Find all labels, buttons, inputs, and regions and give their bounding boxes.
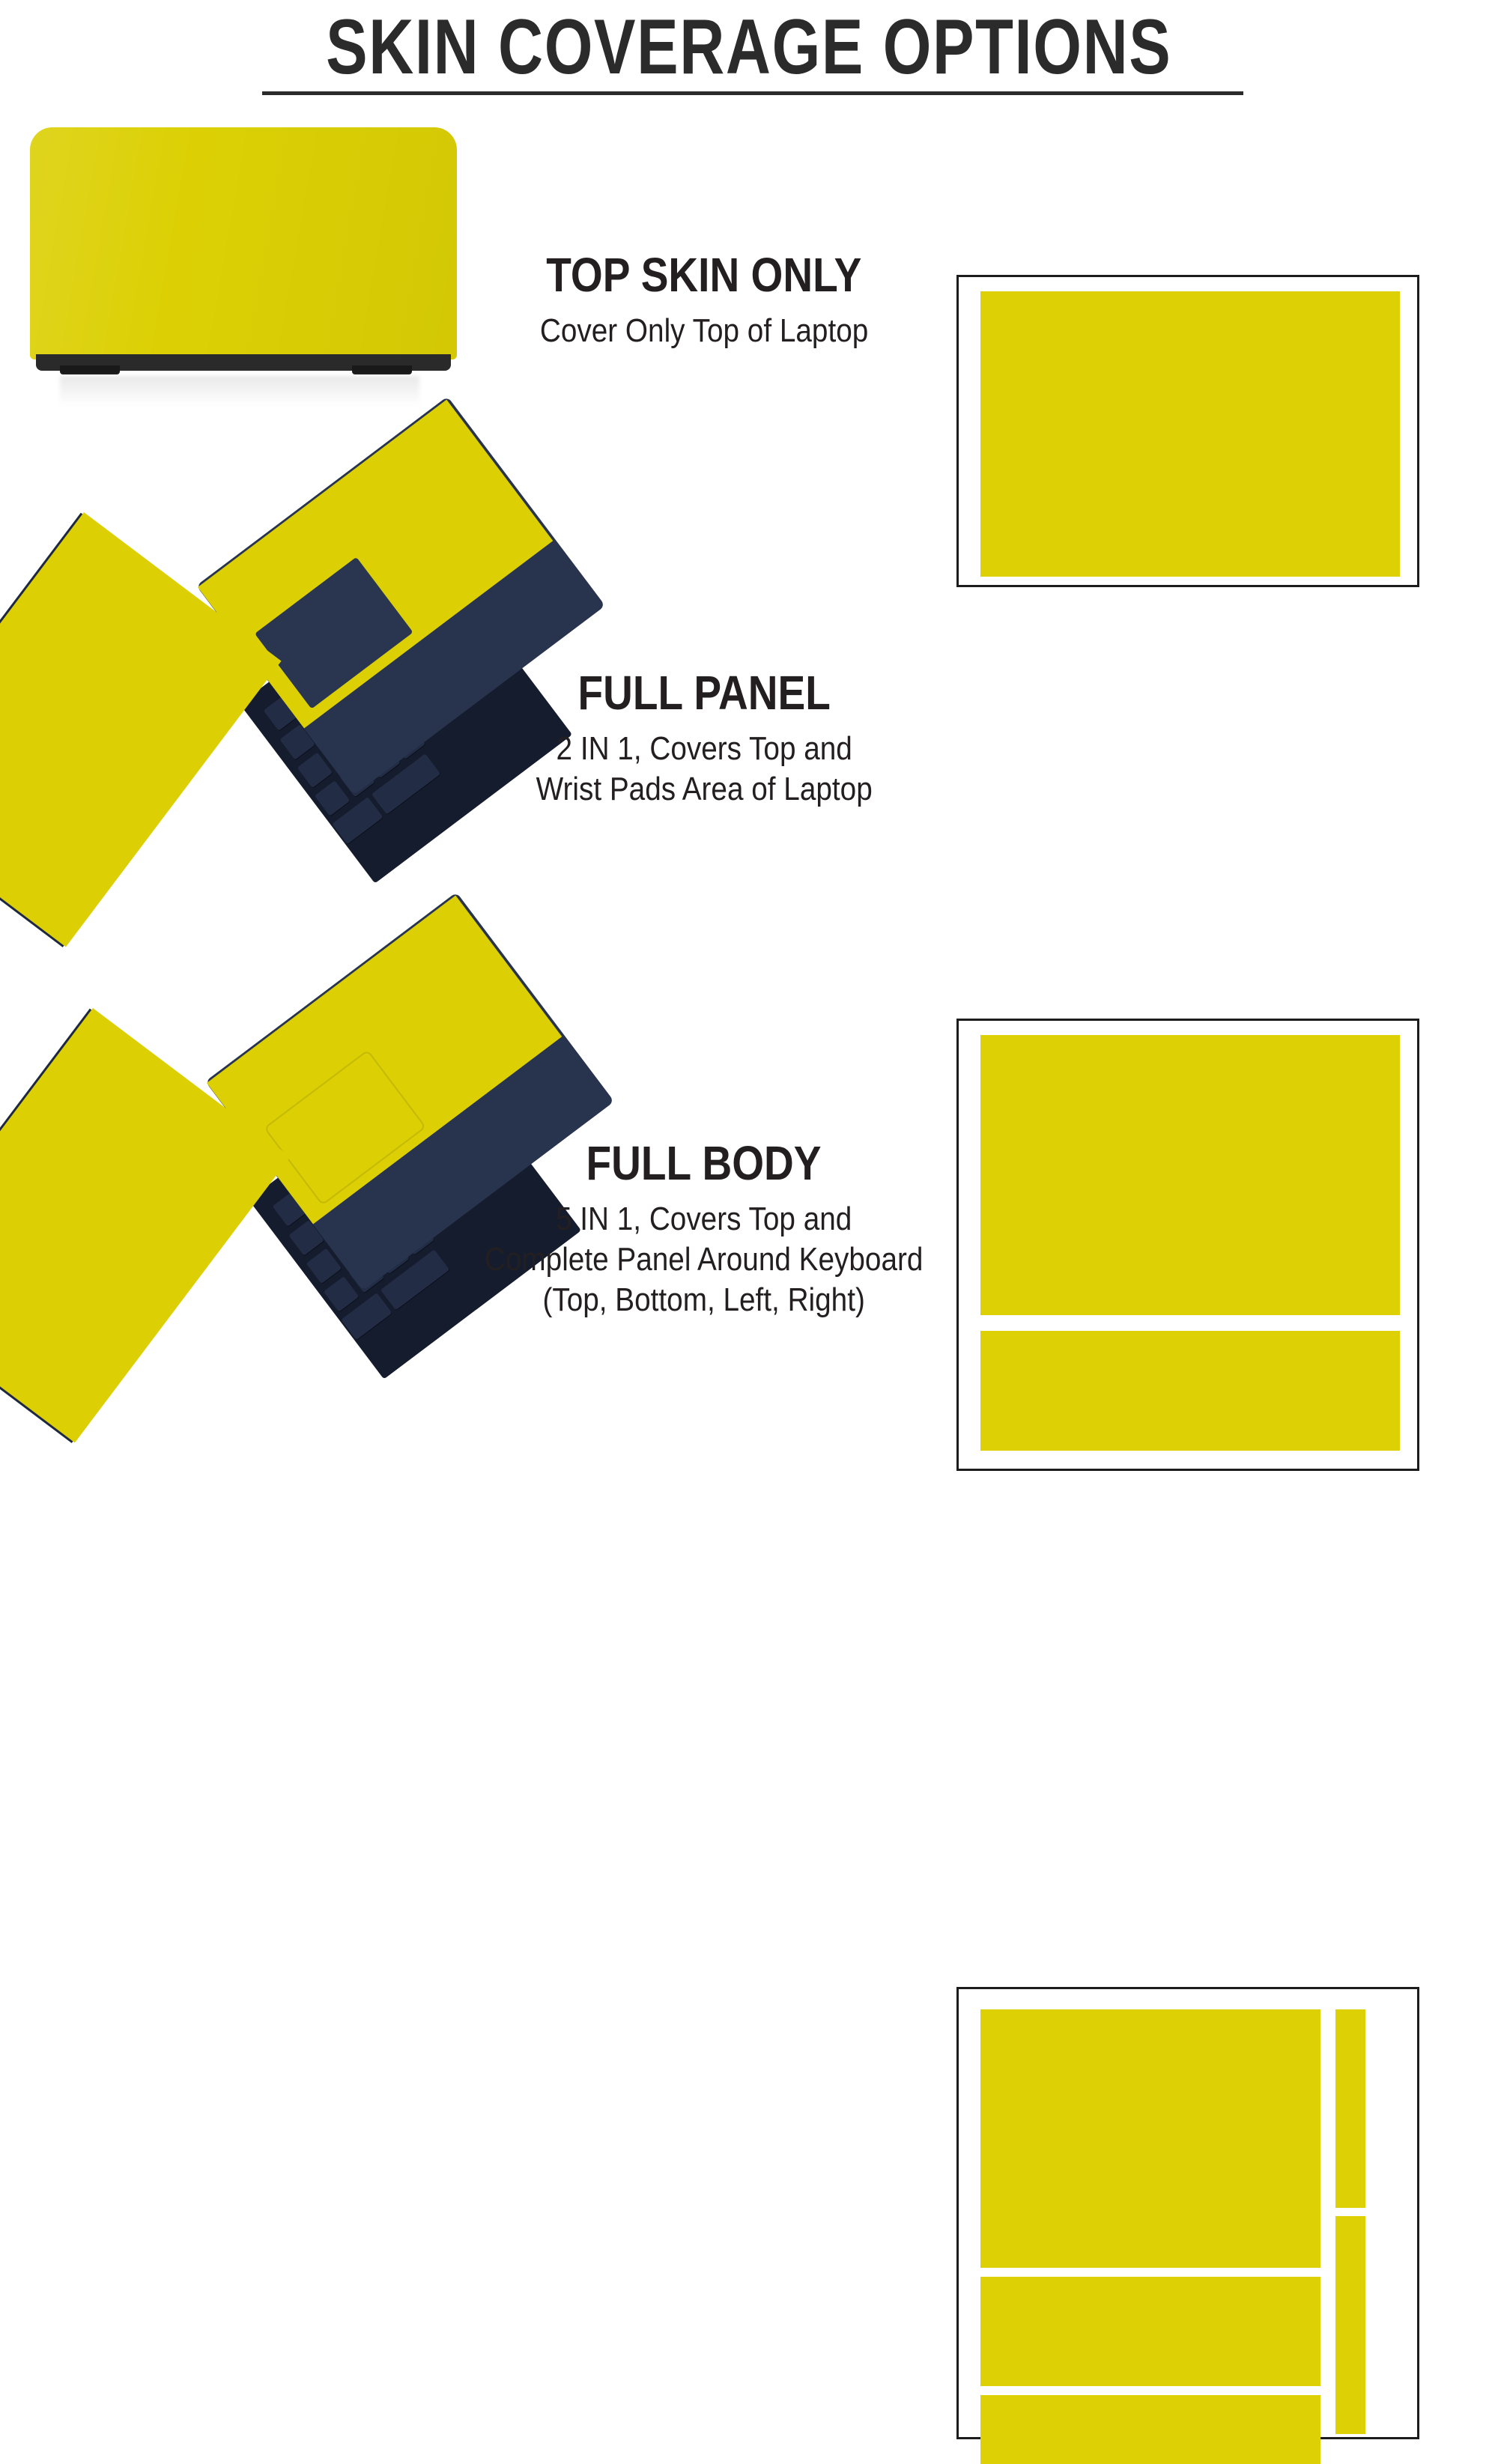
skin-sheet-diagram-full-body xyxy=(956,1987,1419,2439)
option-description-line: Wrist Pads Area of Laptop xyxy=(536,769,872,810)
option-description-line: Cover Only Top of Laptop xyxy=(540,311,868,351)
option-row-full-panel: FULL PANEL 2 IN 1, Covers Top and Wrist … xyxy=(0,494,1498,981)
laptop-reflection xyxy=(60,376,419,406)
option-description-line: 2 IN 1, Covers Top and xyxy=(536,729,872,769)
sheet-keyboard-bottom-strip xyxy=(980,2395,1320,2464)
open-laptop-graphic-full-panel xyxy=(7,494,472,981)
sheet-right-strip-upper xyxy=(1335,2009,1365,2208)
option-description-line: (Top, Bottom, Left, Right) xyxy=(485,1280,923,1320)
option-description: 2 IN 1, Covers Top and Wrist Pads Area o… xyxy=(536,729,872,810)
option-description: 5 IN 1, Covers Top and Complete Panel Ar… xyxy=(485,1199,923,1320)
laptop-lid-skinned xyxy=(30,127,457,359)
laptop-foot-left xyxy=(60,365,120,374)
page-title: SKIN COVERAGE OPTIONS xyxy=(326,6,1171,88)
title-underline-rule xyxy=(262,91,1243,95)
option-row-top-skin-only: TOP SKIN ONLY Cover Only Top of Laptop xyxy=(0,112,1498,487)
laptop-illustration-full-panel xyxy=(7,494,472,981)
sheet-keyboard-top-strip xyxy=(980,2277,1320,2386)
sheet-top-lid xyxy=(980,2009,1320,2268)
page-header: SKIN COVERAGE OPTIONS xyxy=(0,6,1498,88)
option-description: Cover Only Top of Laptop xyxy=(540,311,868,351)
sheet-right-strip-lower xyxy=(1335,2216,1365,2434)
option-title: FULL BODY xyxy=(586,1136,822,1190)
laptop-illustration-full-body xyxy=(7,974,472,1483)
option-description-line: 5 IN 1, Covers Top and xyxy=(485,1199,923,1239)
option-text-top-skin-only: TOP SKIN ONLY Cover Only Top of Laptop xyxy=(449,112,959,487)
open-laptop-graphic-full-body xyxy=(7,974,472,1483)
option-row-full-body: FULL BODY 5 IN 1, Covers Top and Complet… xyxy=(0,974,1498,1483)
option-description-line: Complete Panel Around Keyboard xyxy=(485,1239,923,1280)
laptop-foot-right xyxy=(352,365,412,374)
option-title: FULL PANEL xyxy=(577,666,830,720)
closed-laptop-graphic xyxy=(30,127,457,374)
option-text-full-panel: FULL PANEL 2 IN 1, Covers Top and Wrist … xyxy=(449,494,959,981)
option-text-full-body: FULL BODY 5 IN 1, Covers Top and Complet… xyxy=(449,974,959,1483)
option-title: TOP SKIN ONLY xyxy=(546,248,861,302)
